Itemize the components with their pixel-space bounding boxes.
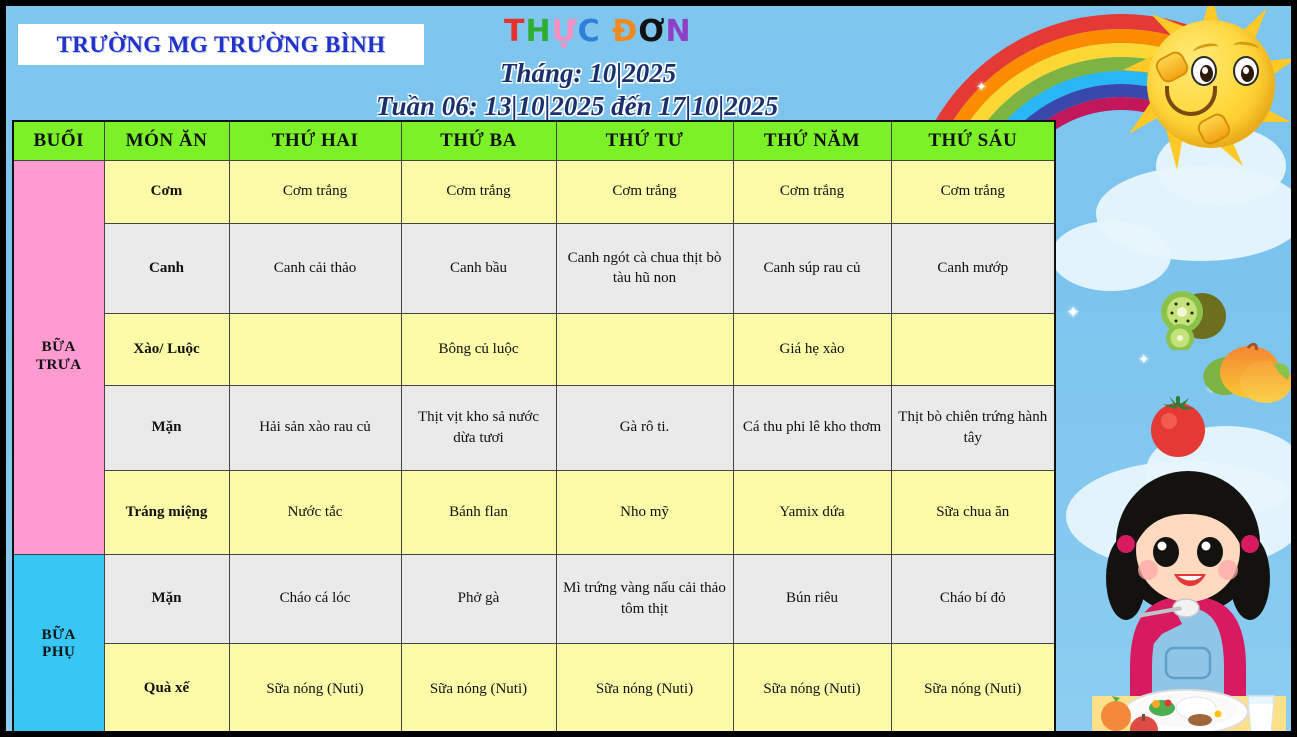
menu-cell: Hải sản xào rau củ	[229, 385, 401, 470]
title-letter-2: Ự	[552, 14, 578, 49]
table-row: Quà xếSữa nóng (Nuti)Sữa nóng (Nuti)Sữa …	[13, 643, 1055, 735]
title-letter-5: Đ	[612, 14, 638, 49]
table-row: MặnHải sản xào rau củThịt vịt kho sả nướ…	[13, 385, 1055, 470]
column-header-4: THỨ TƯ	[556, 121, 733, 160]
menu-cell	[229, 313, 401, 385]
menu-cell: Sữa nóng (Nuti)	[733, 643, 891, 735]
sparkle-icon: ✦	[976, 80, 987, 93]
menu-cell: Cơm trắng	[891, 160, 1055, 223]
table-row: CanhCanh cải thảoCanh bầuCanh ngót cà ch…	[13, 223, 1055, 313]
sun-eye-icon	[1233, 56, 1259, 86]
table-row: Tráng miệngNước tắcBánh flanNho mỹYamix …	[13, 470, 1055, 554]
column-header-0: BUỔI	[13, 121, 104, 160]
table-row: Xào/ LuộcBông củ luộcGiá hẹ xào	[13, 313, 1055, 385]
page-title: THỰC ĐƠN	[504, 14, 692, 49]
menu-cell: Cơm trắng	[556, 160, 733, 223]
title-letter-0: T	[504, 14, 525, 49]
menu-cell: Cơm trắng	[401, 160, 556, 223]
table-row: BỮATRƯACơmCơm trắngCơm trắngCơm trắngCơm…	[13, 160, 1055, 223]
menu-table: BUỔIMÓN ĂNTHỨ HAITHỨ BATHỨ TƯTHỨ NĂMTHỨ …	[12, 120, 1056, 736]
menu-cell: Mì trứng vàng nấu cải thảo tôm thịt	[556, 554, 733, 643]
tomato-icon	[1141, 388, 1215, 460]
menu-cell: Nước tắc	[229, 470, 401, 554]
menu-cell: Sữa chua ăn	[891, 470, 1055, 554]
dish-type-label: Xào/ Luộc	[104, 313, 229, 385]
title-letter-3: C	[578, 14, 601, 49]
menu-cell: Cháo cá lóc	[229, 554, 401, 643]
menu-cell: Bánh flan	[401, 470, 556, 554]
month-line: Tháng: 10|2025	[500, 58, 676, 89]
header-row: BUỔIMÓN ĂNTHỨ HAITHỨ BATHỨ TƯTHỨ NĂMTHỨ …	[13, 121, 1055, 160]
title-letter-1: H	[525, 14, 551, 49]
sun-eye-icon	[1191, 56, 1217, 86]
menu-cell: Canh bầu	[401, 223, 556, 313]
menu-cell: Yamix dứa	[733, 470, 891, 554]
week-line: Tuần 06: 13|10|2025 đến 17|10|2025	[376, 91, 778, 122]
menu-cell: Sữa nóng (Nuti)	[229, 643, 401, 735]
column-header-5: THỨ NĂM	[733, 121, 891, 160]
menu-cell: Bún riêu	[733, 554, 891, 643]
dish-type-label: Quà xế	[104, 643, 229, 735]
menu-cell: Cơm trắng	[229, 160, 401, 223]
menu-cell: Sữa nóng (Nuti)	[401, 643, 556, 735]
meal-section-label: BỮAPHỤ	[13, 554, 104, 735]
menu-cell: Canh cải thảo	[229, 223, 401, 313]
school-name-box: TRƯỜNG MG TRƯỜNG BÌNH	[18, 24, 424, 65]
menu-cell: Cơm trắng	[733, 160, 891, 223]
dish-type-label: Tráng miệng	[104, 470, 229, 554]
column-header-1: MÓN ĂN	[104, 121, 229, 160]
menu-cell: Cháo bí đỏ	[891, 554, 1055, 643]
menu-poster: ✦ ✦ ✦ ✦ ✦ ✦	[0, 0, 1297, 737]
menu-cell: Canh mướp	[891, 223, 1055, 313]
table-body: BỮATRƯACơmCơm trắngCơm trắngCơm trắngCơm…	[13, 160, 1055, 735]
menu-cell: Canh súp rau củ	[733, 223, 891, 313]
dish-type-label: Mặn	[104, 385, 229, 470]
title-letter-4	[601, 14, 612, 49]
girl-eating-icon	[1078, 458, 1297, 737]
dish-type-label: Mặn	[104, 554, 229, 643]
menu-cell	[891, 313, 1055, 385]
title-letter-7: N	[666, 14, 692, 49]
sparkle-icon: ✦	[1138, 354, 1150, 368]
dish-type-label: Cơm	[104, 160, 229, 223]
menu-cell: Canh ngót cà chua thịt bò tàu hũ non	[556, 223, 733, 313]
meal-section-label: BỮATRƯA	[13, 160, 104, 554]
dish-type-label: Canh	[104, 223, 229, 313]
menu-cell: Gà rô ti.	[556, 385, 733, 470]
school-name: TRƯỜNG MG TRƯỜNG BÌNH	[57, 32, 386, 58]
sparkle-icon: ✦	[1066, 304, 1080, 321]
menu-cell: Nho mỹ	[556, 470, 733, 554]
column-header-2: THỨ HAI	[229, 121, 401, 160]
menu-cell: Giá hẹ xào	[733, 313, 891, 385]
table-header: BUỔIMÓN ĂNTHỨ HAITHỨ BATHỨ TƯTHỨ NĂMTHỨ …	[13, 121, 1055, 160]
menu-cell: Thịt vịt kho sả nước dừa tươi	[401, 385, 556, 470]
sky-background: ✦ ✦ ✦ ✦ ✦ ✦	[0, 0, 1297, 737]
table-row: BỮAPHỤMặnCháo cá lócPhở gàMì trứng vàng …	[13, 554, 1055, 643]
menu-cell: Cá thu phi lê kho thơm	[733, 385, 891, 470]
menu-cell: Thịt bò chiên trứng hành tây	[891, 385, 1055, 470]
title-letter-6: Ơ	[638, 14, 665, 49]
column-header-3: THỨ BA	[401, 121, 556, 160]
menu-cell: Sữa nóng (Nuti)	[556, 643, 733, 735]
column-header-6: THỨ SÁU	[891, 121, 1055, 160]
menu-cell: Phở gà	[401, 554, 556, 643]
menu-cell	[556, 313, 733, 385]
menu-cell: Bông củ luộc	[401, 313, 556, 385]
menu-cell: Sữa nóng (Nuti)	[891, 643, 1055, 735]
